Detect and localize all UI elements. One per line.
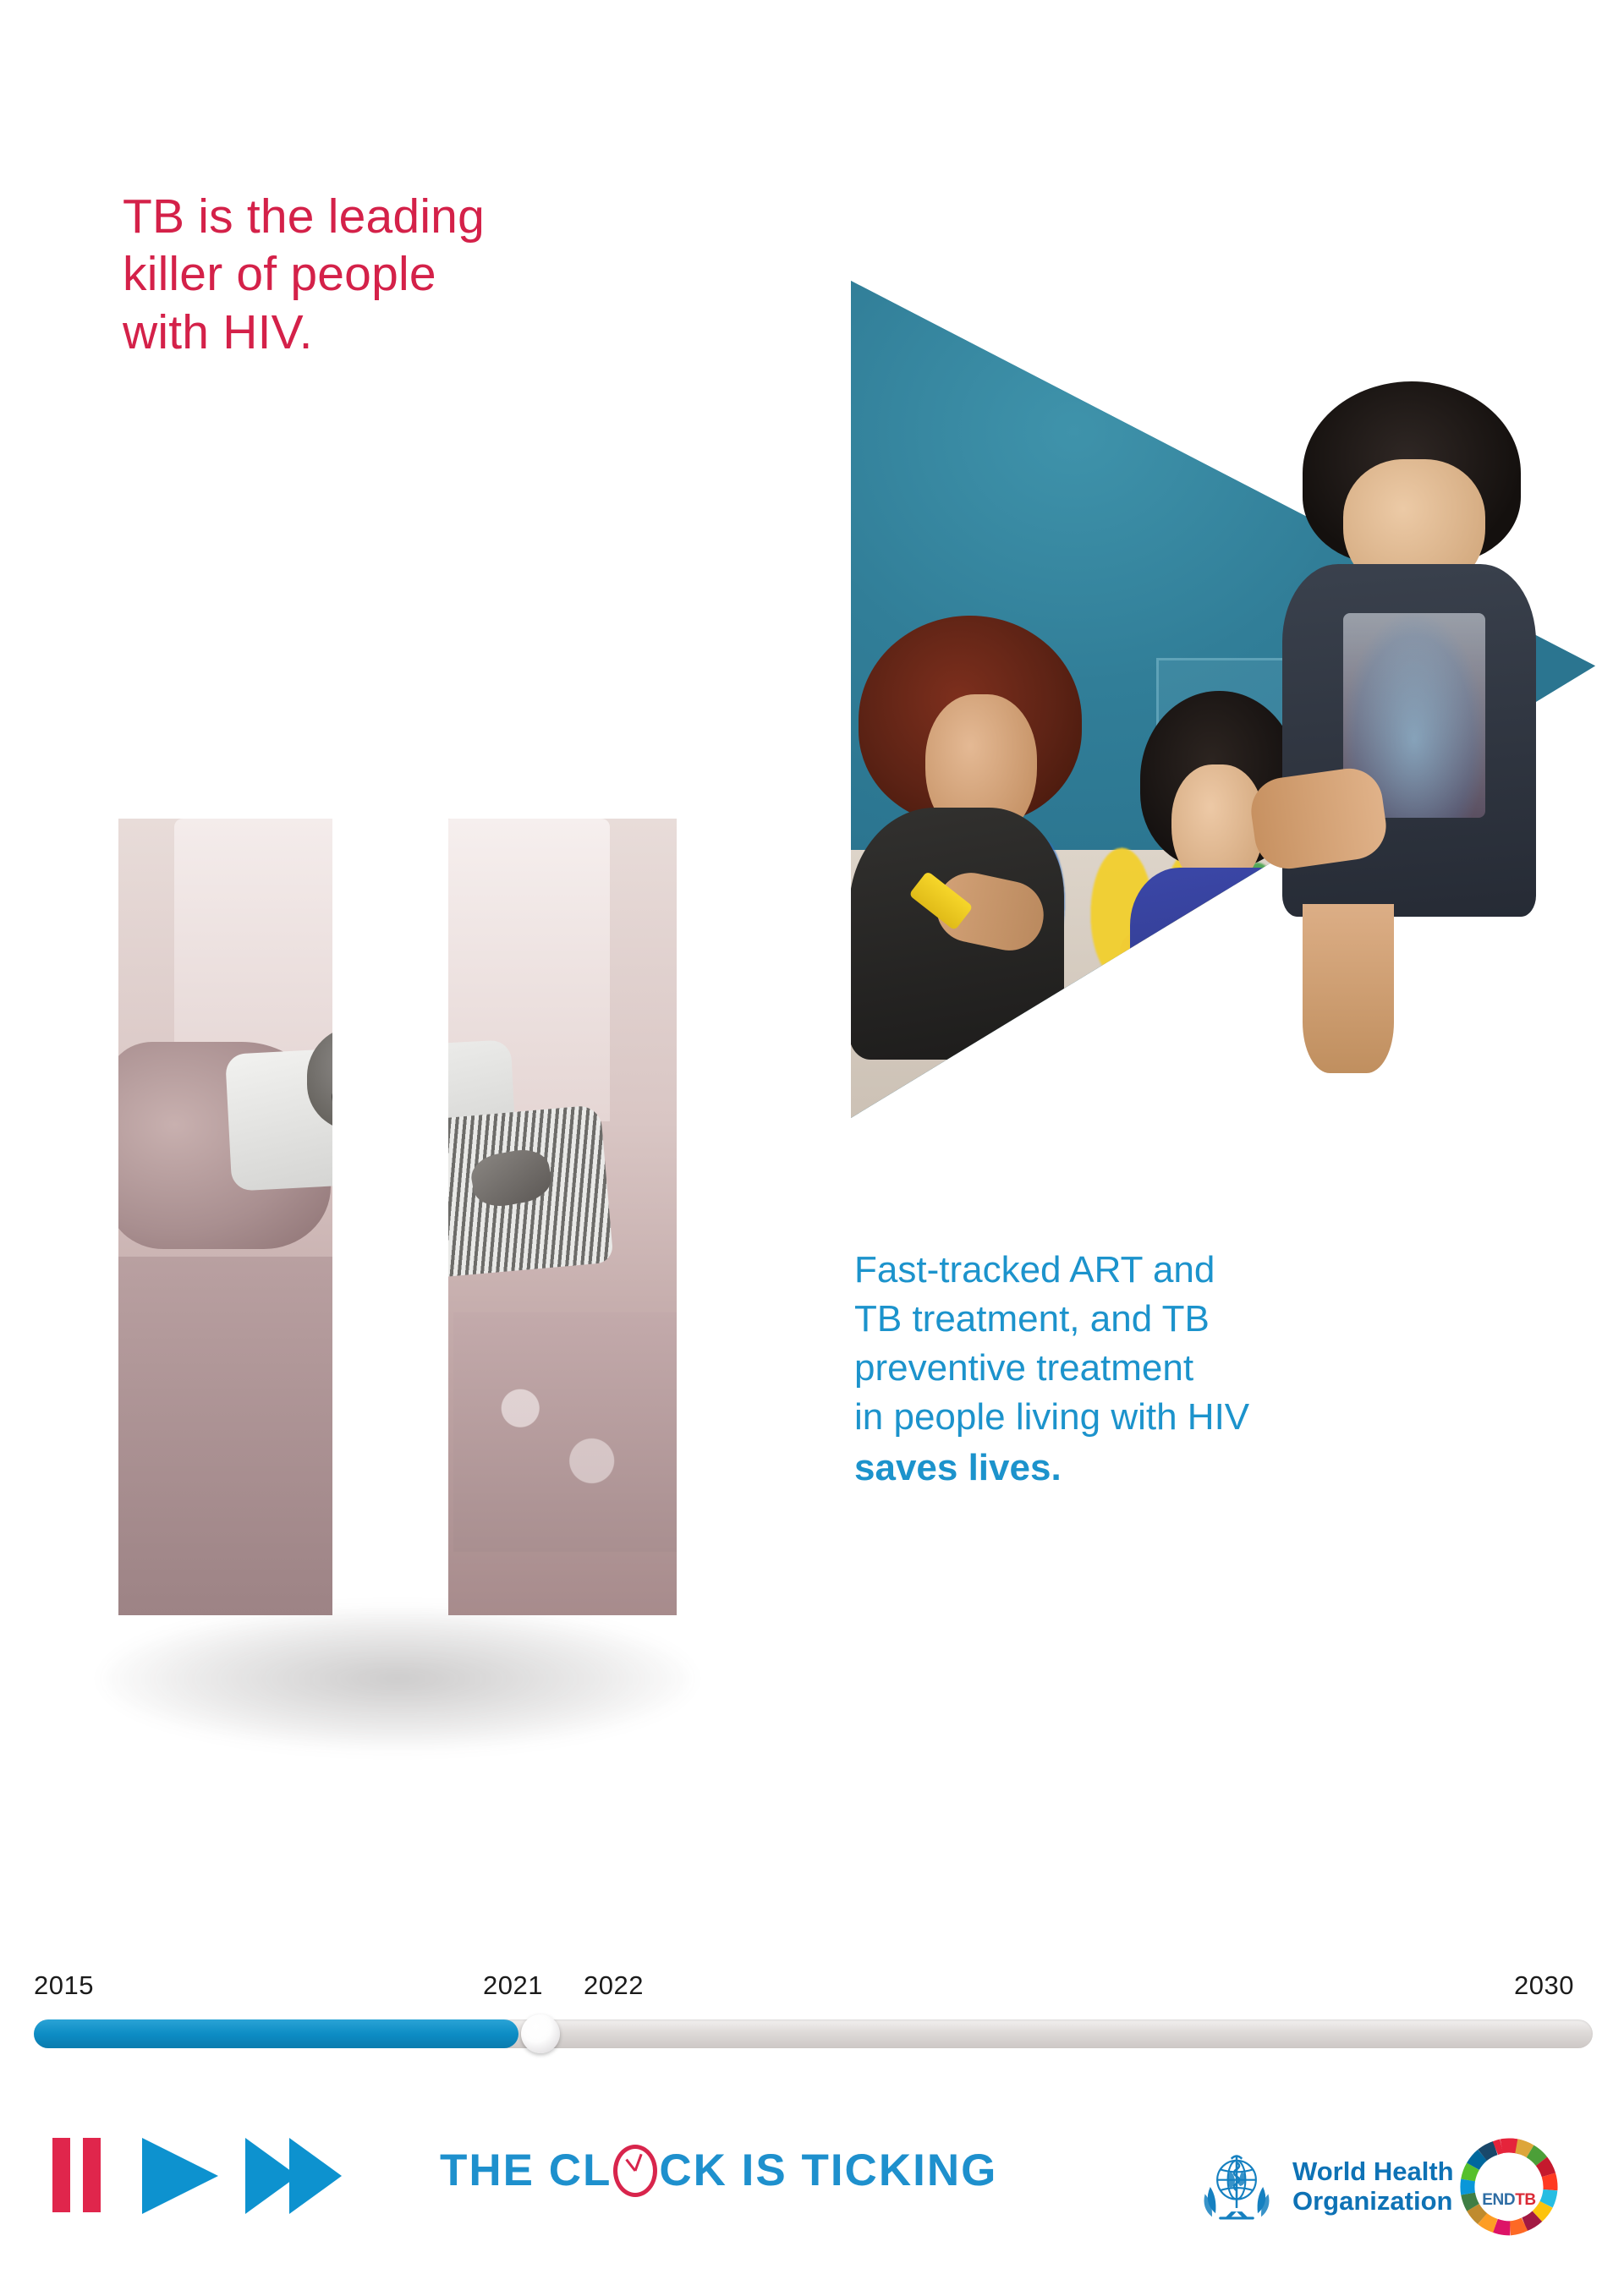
pause-photo-bar-left: [118, 819, 332, 1615]
fast-forward-icon[interactable]: [245, 2138, 355, 2214]
who-line-2: Organization: [1292, 2187, 1454, 2217]
triangle-photo-clip: [851, 281, 1595, 1118]
pause-photo: [118, 819, 677, 1615]
timeline-slider[interactable]: [34, 2019, 1593, 2048]
year-label-target: 2030: [1514, 1970, 1574, 2001]
duotone-scene: [118, 819, 332, 1615]
end-text: END: [1482, 2191, 1515, 2209]
year-label-current: 2021: [483, 1970, 543, 2001]
tb-text: TB: [1515, 2191, 1536, 2209]
end-tb-wordmark: ENDTB: [1476, 2154, 1542, 2220]
body-text-block: Fast-tracked ART and TB treatment, and T…: [854, 1197, 1522, 1543]
person-woman: [859, 616, 1082, 1051]
pause-bar-1: [52, 2138, 70, 2212]
body-text-emphasis: saves lives.: [854, 1444, 1522, 1493]
who-line-1: World Health: [1292, 2157, 1454, 2187]
clock-icon: [613, 2145, 657, 2197]
who-emblem-icon: [1193, 2143, 1281, 2231]
fast-forward-triangle-2: [289, 2138, 342, 2214]
slogan-text-part1: THE CL: [440, 2145, 612, 2195]
pause-icon[interactable]: [52, 2138, 101, 2212]
poster-canvas: TB is the leading killer of people with …: [0, 0, 1624, 2296]
photo-drop-shadow: [101, 1607, 694, 1751]
triangle-photo: [851, 281, 1595, 1118]
child-body: [1130, 868, 1308, 1074]
body-text: Fast-tracked ART and TB treatment, and T…: [854, 1249, 1249, 1438]
slogan-text-part2: CK IS TICKING: [659, 2145, 997, 2195]
who-wordmark: World Health Organization: [1292, 2157, 1454, 2216]
tb-patient: [448, 1026, 643, 1552]
play-icon[interactable]: [142, 2138, 218, 2214]
footer-bar: THE CLCK IS TICKING: [0, 2131, 1624, 2266]
slider-progress-fill: [34, 2019, 518, 2048]
slider-track[interactable]: [34, 2019, 1593, 2048]
year-label-next: 2022: [584, 1970, 644, 2001]
who-logo: World Health Organization: [1193, 2141, 1454, 2233]
person-young-child: [1133, 691, 1304, 1060]
slider-thumb-handle[interactable]: [521, 2014, 560, 2053]
year-label-start: 2015: [34, 1970, 94, 2001]
pause-photo-bar-right: [448, 819, 677, 1615]
pause-bar-2: [83, 2138, 101, 2212]
timeline: 2015 2021 2022 2030: [0, 1970, 1624, 2089]
duotone-scene: [448, 819, 677, 1615]
page-headline: TB is the leading killer of people with …: [123, 188, 647, 361]
metal-plate: [1178, 967, 1327, 1043]
tb-patient: [286, 1026, 332, 1552]
patient-arm: [330, 1245, 332, 1501]
boy-forearm: [1303, 904, 1394, 1074]
end-tb-logo: ENDTB: [1460, 2138, 1558, 2236]
campaign-slogan: THE CLCK IS TICKING: [440, 2145, 997, 2197]
